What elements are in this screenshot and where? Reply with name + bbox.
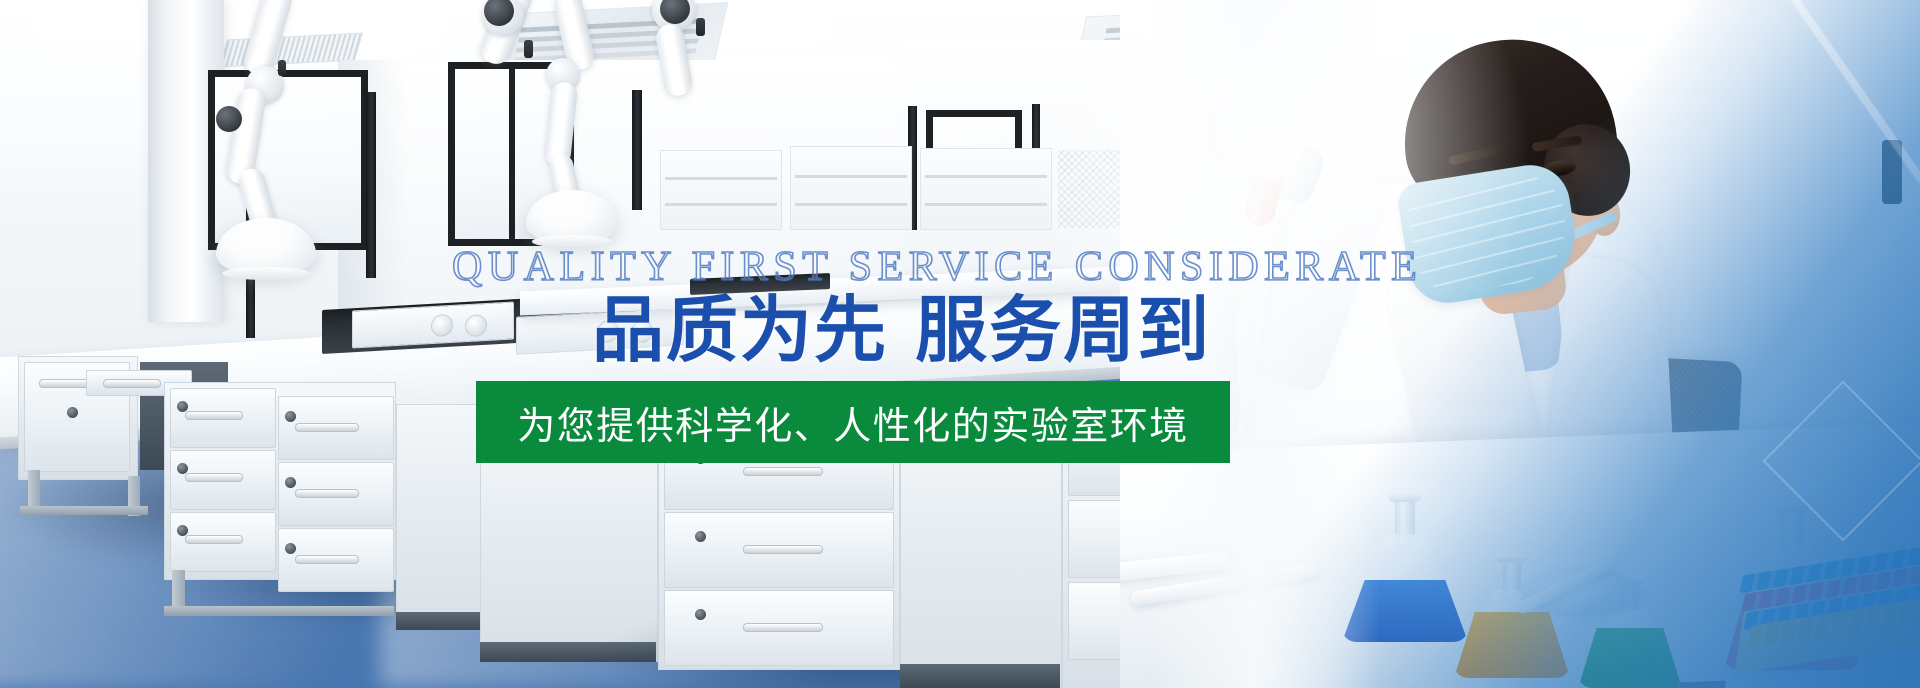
cabinet-leg (28, 470, 40, 508)
wall-shelf-unit (790, 146, 912, 230)
wall-shelf-unit (660, 150, 782, 230)
drawer (278, 396, 394, 460)
blue-flask (1342, 520, 1468, 642)
drawer (170, 388, 276, 448)
english-tagline: QUALITY FIRST SERVICE CONSIDERATE (452, 246, 1422, 288)
cabinet-plinth (20, 506, 148, 515)
cabinet-plinth (164, 606, 394, 616)
subtitle-bar: 为您提供科学化、人性化的实验室环境 (476, 381, 1230, 463)
drawer (278, 528, 394, 592)
wall-shelf-unit (920, 148, 1052, 230)
hero-banner: QUALITY FIRST SERVICE CONSIDERATE 品质为先 服… (0, 0, 1920, 688)
island-kickplate (396, 612, 480, 630)
drawer (664, 590, 894, 666)
scientist-at-bench-photo (1120, 0, 1920, 688)
cabinet-leg (172, 570, 185, 610)
drawer (170, 512, 276, 572)
bench-kickplate (900, 664, 1060, 688)
window-post (632, 90, 642, 210)
drawer (170, 450, 276, 510)
drawer (278, 462, 394, 526)
window-post (366, 92, 376, 278)
island-end-panel (396, 404, 482, 630)
drawer (664, 512, 894, 588)
subtitle-text: 为您提供科学化、人性化的实验室环境 (517, 395, 1189, 450)
headline: 品质为先 服务周到 (592, 288, 1211, 373)
